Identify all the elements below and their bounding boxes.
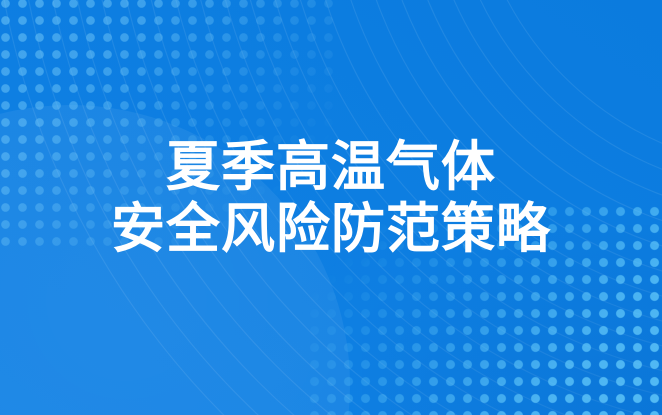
banner-title-line-1: 夏季高温气体 bbox=[0, 136, 662, 198]
banner-graphic: 夏季高温气体 安全风险防范策略 bbox=[0, 0, 662, 415]
banner-title: 夏季高温气体 安全风险防范策略 bbox=[0, 136, 662, 260]
banner-title-line-2: 安全风险防范策略 bbox=[0, 198, 662, 260]
